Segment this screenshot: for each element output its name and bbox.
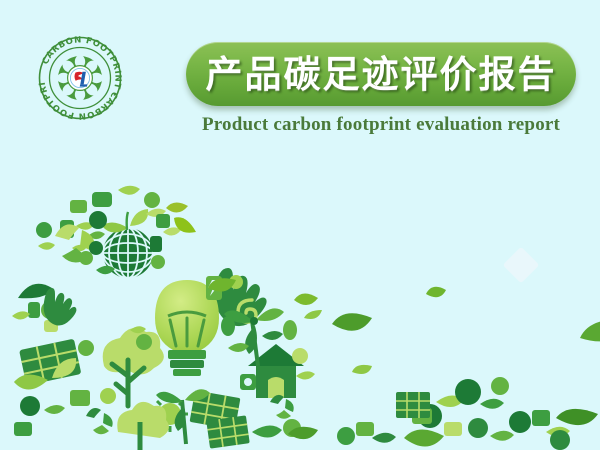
- recycle-icon: [36, 222, 103, 263]
- leaf-icon: [102, 209, 148, 233]
- page-title: 产品碳足迹评价报告: [206, 56, 557, 93]
- leaf-icon: [332, 313, 372, 331]
- leaf-icon: [404, 429, 444, 446]
- recycle-icon: [86, 408, 113, 434]
- icon-cluster-right-bottom: [337, 377, 570, 450]
- recycle-icon: [270, 395, 294, 419]
- solar-panel-icon: [206, 415, 250, 448]
- leaf-icon: [556, 409, 598, 425]
- tree-icon: [117, 402, 169, 450]
- page-subtitle: Product carbon footprint evaluation repo…: [186, 114, 576, 136]
- footprint-toe-cluster: [60, 186, 181, 278]
- leaf-icon: [426, 287, 446, 297]
- solar-panel-icon: [396, 392, 430, 418]
- leaf-icon: [304, 310, 322, 319]
- report-cover-page: CARBON FOOTPRINT · CARBON FOOTPRINT ·: [0, 0, 600, 450]
- leaf-icon: [352, 365, 372, 374]
- leaf-icon: [580, 319, 600, 341]
- title-banner: 产品碳足迹评价报告: [186, 42, 576, 106]
- leaf-icon: [166, 202, 188, 212]
- footprint-small-toes: [12, 222, 103, 386]
- eco-footprint-illustration: [0, 170, 600, 450]
- hand-icon: [44, 288, 77, 326]
- carbon-footprint-seal-logo: CARBON FOOTPRINT · CARBON FOOTPRINT ·: [38, 36, 122, 120]
- cover-header: CARBON FOOTPRINT · CARBON FOOTPRINT ·: [0, 0, 600, 160]
- leaf-icon: [294, 293, 318, 305]
